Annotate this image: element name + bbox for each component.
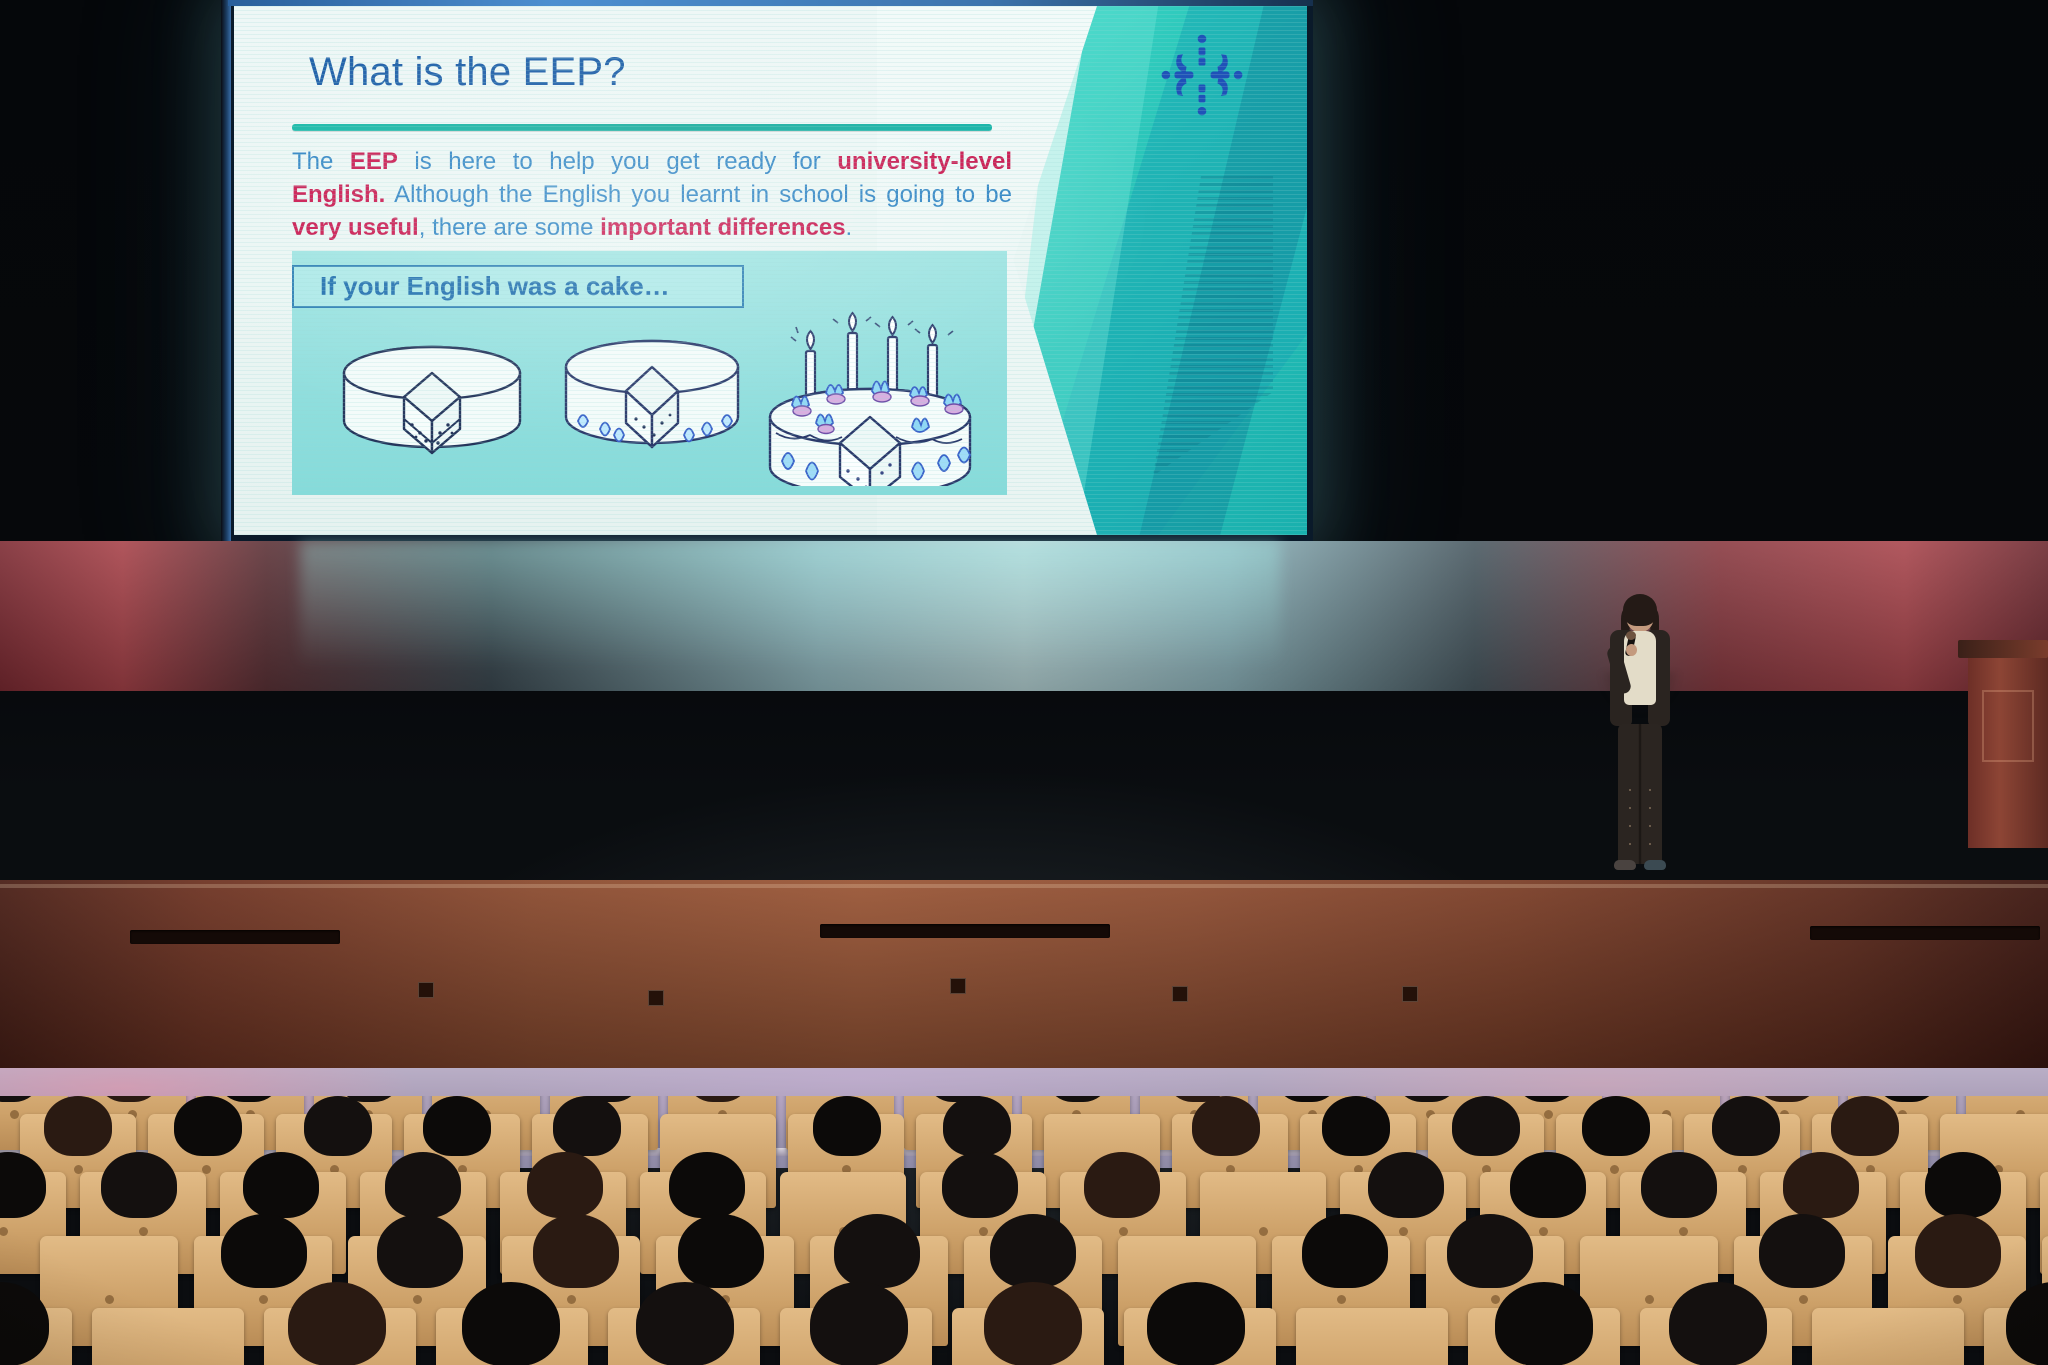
apron-vent: [1810, 926, 2040, 940]
body-seg-5: very useful: [292, 214, 419, 241]
apron-socket: [950, 978, 966, 994]
audience-member: [44, 1096, 112, 1156]
audience-member: [1759, 1214, 1845, 1288]
audience-member: [377, 1214, 463, 1288]
audience-member: [1712, 1096, 1780, 1156]
audience-member: [990, 1214, 1076, 1288]
body-seg-7: important differences: [600, 214, 845, 241]
audience-member: [288, 1282, 386, 1365]
audience-member: [1192, 1096, 1260, 1156]
body-seg-8: .: [846, 214, 853, 241]
slide-body-text: The EEP is here to help you get ready fo…: [292, 146, 1012, 245]
stage-edge-line: [0, 884, 2048, 888]
audience-member: [423, 1096, 491, 1156]
audience-member: [678, 1214, 764, 1288]
audience-member: [1669, 1282, 1767, 1365]
audience-member: [1915, 1214, 2001, 1288]
audience-member: [462, 1282, 560, 1365]
audience-member: [527, 1152, 603, 1218]
cake-analogy-panel: If your English was a cake…: [292, 251, 1007, 495]
iced-cake-illustration: [552, 325, 752, 470]
cake-illustrations: [302, 311, 1002, 486]
stage-floor-reflection: [300, 541, 1280, 691]
lectern-top: [1958, 640, 2048, 658]
audience-member: [1147, 1282, 1245, 1365]
audience-member: [813, 1096, 881, 1156]
body-seg-2: is here to help you get ready for: [398, 148, 837, 175]
presentation-slide: What is the EEP? The EEP is here to help…: [234, 6, 1307, 535]
audience-member: [1447, 1214, 1533, 1288]
apron-socket: [648, 990, 664, 1006]
audience-member: [101, 1152, 177, 1218]
body-seg-6: , there are some: [419, 214, 600, 241]
audience-member: [304, 1096, 372, 1156]
apron-socket: [1172, 986, 1188, 1002]
audience-member: [943, 1096, 1011, 1156]
audience-member: [1495, 1282, 1593, 1365]
audience-member: [942, 1152, 1018, 1218]
audience-member: [174, 1096, 242, 1156]
slide-title: What is the EEP?: [309, 50, 626, 95]
birthday-cake-illustration: [762, 311, 977, 491]
title-underline-rule: [292, 124, 992, 131]
audience-seating: [0, 1096, 2048, 1365]
audience-member: [1368, 1152, 1444, 1218]
audience-member: [385, 1152, 461, 1218]
auditorium-scene: What is the EEP? The EEP is here to help…: [0, 0, 2048, 1365]
audience-member: [1452, 1096, 1520, 1156]
body-seg-4: Although the English you learnt in schoo…: [385, 181, 1012, 208]
snowflake-institution-logo: [1159, 32, 1245, 118]
audience-member: [243, 1152, 319, 1218]
audience-member: [1925, 1152, 2001, 1218]
lectern-panel: [1982, 690, 2034, 762]
auditorium-seat[interactable]: [1812, 1308, 1964, 1365]
projection-screen: What is the EEP? The EEP is here to help…: [228, 0, 1313, 541]
audience-member: [221, 1214, 307, 1288]
apron-socket: [418, 982, 434, 998]
audience-member: [810, 1282, 908, 1365]
audience-member: [1302, 1214, 1388, 1288]
audience-member: [636, 1282, 734, 1365]
auditorium-seat[interactable]: [1296, 1308, 1448, 1365]
audience-member: [834, 1214, 920, 1288]
audience-member: [553, 1096, 621, 1156]
presenter: [1600, 598, 1678, 878]
audience-member: [533, 1214, 619, 1288]
audience-member: [1831, 1096, 1899, 1156]
stage-apron-wall: [0, 880, 2048, 1090]
audience-member: [984, 1282, 1082, 1365]
apron-vent: [820, 924, 1110, 938]
body-seg-1: EEP: [350, 148, 398, 175]
audience-member: [1084, 1152, 1160, 1218]
body-seg-0: The: [292, 148, 350, 175]
audience-member: [1582, 1096, 1650, 1156]
audience-member: [1783, 1152, 1859, 1218]
audience-member: [1510, 1152, 1586, 1218]
audience-member: [1641, 1152, 1717, 1218]
plain-cake-illustration: [332, 333, 532, 468]
apron-vent: [130, 930, 340, 944]
audience-member: [1322, 1096, 1390, 1156]
apron-socket: [1402, 986, 1418, 1002]
cake-panel-label: If your English was a cake…: [292, 265, 744, 308]
auditorium-seat[interactable]: [92, 1308, 244, 1365]
audience-member: [669, 1152, 745, 1218]
